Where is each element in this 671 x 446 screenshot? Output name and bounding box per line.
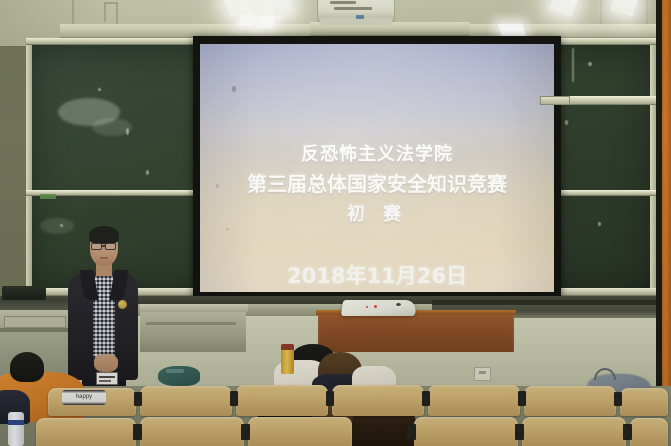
- control-console-top: [0, 300, 78, 310]
- seat-back[interactable]: [620, 388, 668, 416]
- lecture-hall-photo: 反恐怖主义法学院 第三届总体国家安全知识竞赛 初 赛 2018年11月26日: [0, 0, 671, 446]
- water-bottle-band: [8, 420, 24, 425]
- chalk-dot-1: [126, 128, 129, 135]
- water-bottle[interactable]: [8, 412, 24, 446]
- wall-outlet: [474, 367, 491, 381]
- screen-speck-1: [232, 86, 236, 92]
- presenter-glasses-right-lens: [105, 243, 116, 250]
- front-desk-left-top: [140, 304, 248, 312]
- presenter-glasses-left-lens: [91, 243, 102, 250]
- thermos-cap: [281, 344, 294, 350]
- seat-back[interactable]: [332, 385, 424, 416]
- podium-projector-device: [341, 300, 417, 316]
- projector-label-mark: [330, 1, 356, 4]
- seat-back[interactable]: [630, 418, 668, 446]
- presenter-id-card: [96, 372, 118, 385]
- yellow-thermos: [281, 348, 294, 374]
- seat-divider: [518, 391, 526, 406]
- presenter-glasses-bridge: [102, 245, 105, 247]
- seat-divider: [326, 391, 334, 406]
- front-desk-left: [140, 308, 246, 352]
- presenter-clasped-hands: [94, 354, 118, 372]
- console-screen: [2, 286, 46, 300]
- device-indicator-small: [366, 306, 368, 308]
- front-desk-left-panel: [146, 322, 236, 325]
- screen-speck-2: [216, 184, 219, 188]
- right-wall-accent-strip: [662, 0, 671, 446]
- device-indicator-red: [374, 305, 377, 308]
- projector-label-mark-2: [334, 7, 372, 10]
- projection-screen: 反恐怖主义法学院 第三届总体国家安全知识竞赛 初 赛 2018年11月26日: [200, 44, 554, 292]
- presenter-id-card-text: [99, 376, 115, 378]
- projector-face: [320, 18, 392, 25]
- seat-back[interactable]: [140, 417, 244, 446]
- seat-back[interactable]: [236, 385, 328, 416]
- chalk-dot-9: [572, 48, 574, 82]
- front-desk-right-top: [432, 300, 658, 305]
- seat-back[interactable]: [524, 386, 616, 416]
- seat-divider: [623, 424, 632, 440]
- slide-title-line-1: 反恐怖主义法学院: [200, 140, 554, 166]
- seat-divider: [230, 391, 238, 406]
- device-indicator-dark: [396, 303, 401, 306]
- seat-divider: [614, 392, 622, 406]
- slide-title-line-2: 第三届总体国家安全知识竞赛: [200, 168, 554, 197]
- wall-conduit-curve-2: [116, 2, 118, 24]
- presenter-mouth: [100, 257, 108, 259]
- slide-title-line-3: 初 赛: [200, 200, 554, 226]
- seat-divider: [241, 424, 250, 440]
- wall-outlet-slot: [479, 371, 486, 374]
- ceiling-light-4-glow: [498, 24, 526, 36]
- seat-divider: [133, 424, 142, 440]
- presenter-id-card-text-2: [99, 380, 111, 382]
- slide-date: 2018年11月26日: [200, 260, 554, 290]
- seat-divider: [134, 392, 142, 406]
- seat-divider: [407, 424, 416, 440]
- student-orange-jacket-head: [10, 352, 44, 382]
- seat-divider: [515, 424, 524, 440]
- seat-back[interactable]: [522, 417, 626, 446]
- chalk-dot-2: [98, 88, 101, 91]
- chalk-dot-3: [146, 170, 149, 175]
- screen-hanging-bracket: [540, 96, 570, 105]
- chalk-dot-8: [598, 222, 601, 226]
- presenter-badge-pin: [118, 300, 127, 309]
- seat-divider: [422, 391, 430, 406]
- seat-back[interactable]: [428, 385, 520, 416]
- chalk-dot-5: [565, 120, 568, 125]
- pencil-case[interactable]: happy: [62, 390, 106, 405]
- pencil-case-label: happy: [62, 394, 106, 400]
- presenter-hair: [89, 226, 119, 244]
- screen-speck-3: [226, 228, 229, 231]
- wall-conduit-horizontal: [104, 2, 118, 4]
- seat-back[interactable]: [414, 417, 518, 446]
- wall-conduit-curve: [104, 2, 106, 22]
- chalk-dot-7: [588, 62, 592, 66]
- blackboard-magnet-tag: [40, 194, 56, 199]
- blackboard-left-edge: [26, 45, 32, 295]
- green-bag-highlight: [166, 369, 184, 373]
- podium: [318, 312, 514, 352]
- seat-back[interactable]: [140, 386, 232, 416]
- seat-back[interactable]: [248, 417, 352, 446]
- projector-lens: [356, 15, 364, 19]
- control-console-panel: [4, 316, 66, 328]
- console-shelf-edge: [0, 328, 78, 332]
- seat-back[interactable]: [36, 418, 136, 446]
- chalk-dot-4: [60, 224, 63, 227]
- chalk-smudge-3: [40, 218, 74, 234]
